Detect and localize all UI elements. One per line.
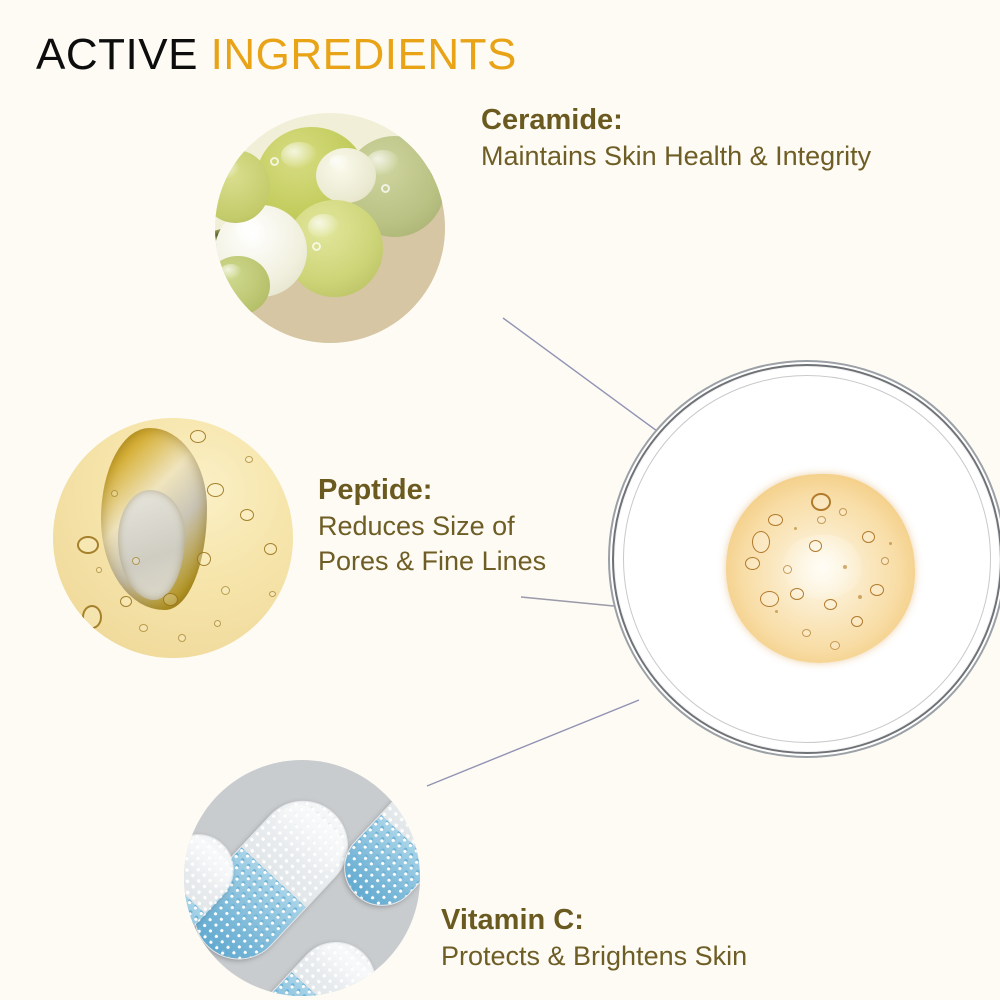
serum-bubble <box>830 641 840 650</box>
serum-bubble <box>794 527 797 530</box>
connector-line-vitamin-c <box>427 700 639 786</box>
callout-body-vitamin-c-line-1: Protects & Brightens Skin <box>441 939 747 974</box>
serum-bubble <box>889 542 892 545</box>
serum-bubble <box>811 493 831 511</box>
callout-heading-peptide: Peptide: <box>318 473 546 509</box>
serum-bubble <box>207 483 224 497</box>
sphere-pore <box>381 184 390 193</box>
title-word-active: ACTIVE <box>36 30 198 79</box>
callout-vitamin-c: Vitamin C: Protects & Brightens Skin <box>441 903 747 974</box>
serum-bubble <box>783 565 792 574</box>
gel-sphere <box>316 148 376 203</box>
serum-bubble <box>221 586 230 595</box>
serum-bubble <box>870 584 884 596</box>
serum-bubble <box>264 543 277 555</box>
callout-peptide: Peptide: Reduces Size of Pores & Fine Li… <box>318 473 546 579</box>
callout-body-peptide-line-2: Pores & Fine Lines <box>318 544 546 579</box>
sphere-pore <box>270 157 279 166</box>
serum-bubble <box>96 567 102 573</box>
serum-bubble <box>190 430 206 443</box>
serum-bubble <box>824 599 837 610</box>
serum-bubble <box>858 595 862 599</box>
vitamin-c-image <box>184 760 420 996</box>
callout-ceramide: Ceramide: Maintains Skin Health & Integr… <box>481 103 871 174</box>
serum-bubble <box>862 531 875 543</box>
peptide-image <box>53 418 293 658</box>
serum-bubble <box>82 605 102 629</box>
serum-bubble <box>178 634 186 642</box>
serum-bubble <box>77 536 99 554</box>
serum-bubble <box>817 516 826 524</box>
serum-bubble <box>881 557 889 565</box>
serum-bubble <box>775 610 778 613</box>
connector-line-peptide <box>521 597 624 607</box>
serum-bubble <box>839 508 847 516</box>
sphere-pore <box>312 242 321 251</box>
connector-line-ceramide <box>503 318 672 442</box>
ceramide-image <box>215 113 445 343</box>
serum-bubble <box>120 596 132 607</box>
serum-bubble <box>760 591 779 607</box>
serum-bubble <box>802 629 811 637</box>
serum-bubble <box>269 591 276 597</box>
serum-bubble <box>790 588 804 600</box>
infographic-canvas: ACTIVE INGREDIENTS <box>0 0 1000 1000</box>
serum-bubble <box>752 531 770 553</box>
serum-bubble <box>768 514 783 526</box>
callout-heading-ceramide: Ceramide: <box>481 103 871 139</box>
serum-bubble <box>111 490 118 497</box>
callout-body-ceramide-line-1: Maintains Skin Health & Integrity <box>481 139 871 174</box>
callout-heading-vitamin-c: Vitamin C: <box>441 903 747 939</box>
page-title: ACTIVE INGREDIENTS <box>36 30 517 80</box>
title-word-ingredients: INGREDIENTS <box>211 30 517 79</box>
callout-body-peptide-line-1: Reduces Size of <box>318 509 546 544</box>
amber-serum-drop <box>726 474 915 663</box>
petri-dish <box>612 364 1000 754</box>
serum-bubble <box>214 620 221 627</box>
serum-bubble <box>745 557 760 570</box>
serum-bubble <box>851 616 863 627</box>
